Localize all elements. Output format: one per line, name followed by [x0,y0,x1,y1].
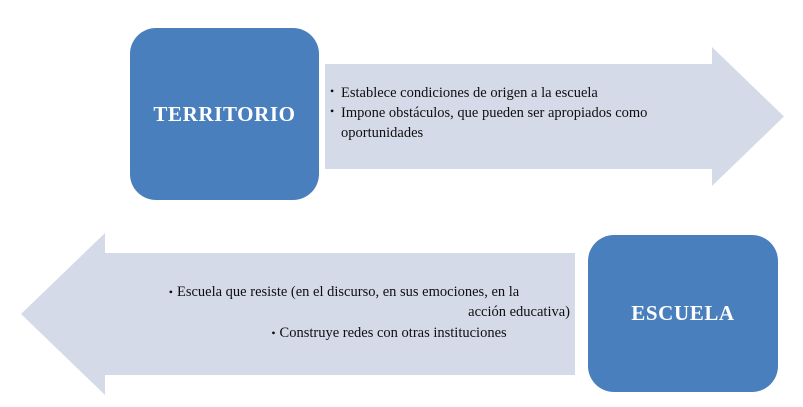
arrow-bottom-bullet-2-text: Construye redes con otras instituciones [280,325,507,341]
diagram-canvas: Establece condiciones de origen a la esc… [0,0,803,407]
node-territorio[interactable]: TERRITORIO [130,28,319,200]
arrow-bottom-bullet-1-line-2: acción educativa) [118,303,570,322]
arrow-bottom-bullet-1-line-1: •Escuela que resiste (en el discurso, en… [118,283,570,302]
bullet-glyph-icon: • [169,285,177,299]
node-escuela[interactable]: ESCUELA [588,235,778,392]
arrow-bottom-bullet-2: •Construye redes con otras instituciones [118,324,570,343]
node-escuela-label: ESCUELA [631,301,734,326]
arrow-bottom-bullet-1-line-2-text: acción educativa) [468,304,570,320]
arrow-bottom-bullet-list: •Escuela que resiste (en el discurso, en… [118,283,570,343]
arrow-top-bullet-1: Establece condiciones de origen a la esc… [330,84,690,103]
arrow-territorio-to-escuela-text: Establece condiciones de origen a la esc… [330,84,690,144]
arrow-top-bullet-2: Impone obstáculos, que pueden ser apropi… [330,104,690,143]
arrow-bottom-bullet-1-line-1-text: Escuela que resiste (en el discurso, en … [177,284,519,300]
node-territorio-label: TERRITORIO [153,102,295,127]
arrow-escuela-to-territorio-text: •Escuela que resiste (en el discurso, en… [118,283,570,344]
bullet-glyph-icon-2: • [271,326,279,340]
arrow-top-bullet-list: Establece condiciones de origen a la esc… [330,84,690,143]
